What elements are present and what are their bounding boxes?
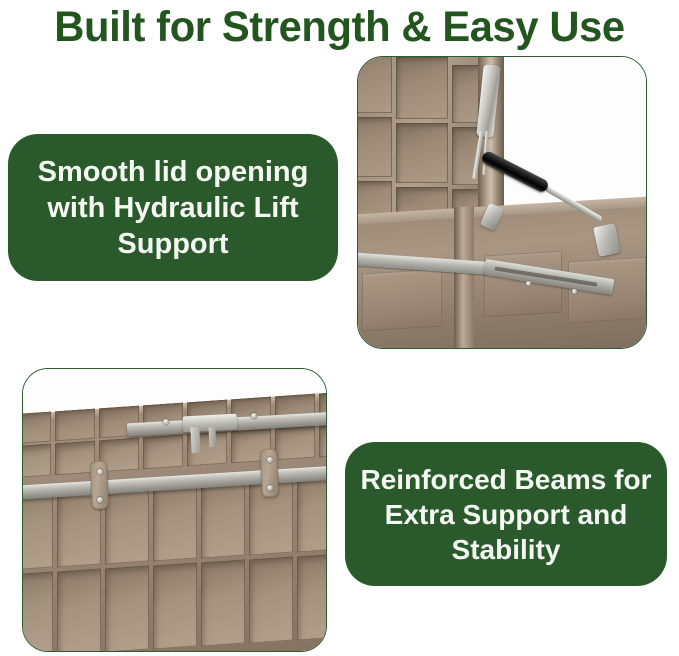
beam-screw — [163, 419, 169, 425]
page-title: Built for Strength & Easy Use — [10, 2, 669, 52]
rib-cell — [105, 565, 149, 651]
tab-screw — [97, 469, 103, 475]
rib-cell — [153, 478, 197, 561]
rib-cell — [275, 426, 315, 461]
box-corner-post — [454, 206, 474, 348]
rail-screw — [526, 281, 531, 286]
rib-cell — [297, 469, 326, 552]
rib-cell — [23, 571, 53, 651]
photo-hydraulic-canvas — [358, 57, 646, 348]
callout-smooth-lid-opening: Smooth lid opening with Hydraulic Lift S… — [8, 134, 338, 281]
rib-cell — [23, 412, 51, 445]
rib-cell — [201, 475, 245, 558]
rib-cell — [319, 422, 326, 457]
rib-cell — [297, 553, 326, 640]
rib-cell — [249, 556, 293, 643]
photo-hydraulic-lift-support — [357, 56, 647, 349]
latch-tongue — [208, 427, 216, 447]
rib-cell — [105, 481, 149, 564]
photo-beams-canvas — [23, 369, 326, 651]
callout-reinforced-beams: Reinforced Beams for Extra Support and S… — [345, 442, 667, 586]
rail-screw — [572, 289, 577, 294]
tab-screw — [267, 457, 273, 463]
beam-screw — [251, 413, 257, 419]
rib-cell — [23, 444, 51, 479]
callout-lid-text: Smooth lid opening with Hydraulic Lift S… — [22, 154, 324, 262]
rib-cell — [57, 568, 101, 651]
callout-beams-text: Reinforced Beams for Extra Support and S… — [359, 462, 653, 567]
lid-rib-cell — [358, 117, 392, 177]
latch-tongue — [190, 427, 200, 453]
lid-rib-cell — [358, 57, 392, 113]
rib-cell — [153, 562, 197, 649]
box-wall-panel — [362, 269, 442, 332]
lid-rib-cell — [396, 57, 448, 119]
photo-reinforced-beams — [22, 368, 327, 652]
tab-screw — [97, 497, 103, 503]
rib-cell — [55, 441, 95, 476]
tab-screw — [267, 485, 273, 491]
rib-cell — [201, 559, 245, 646]
rib-cell — [55, 409, 95, 442]
rib-cell — [143, 435, 183, 470]
lid-rib-cell — [396, 123, 448, 183]
rib-cell — [23, 487, 53, 570]
